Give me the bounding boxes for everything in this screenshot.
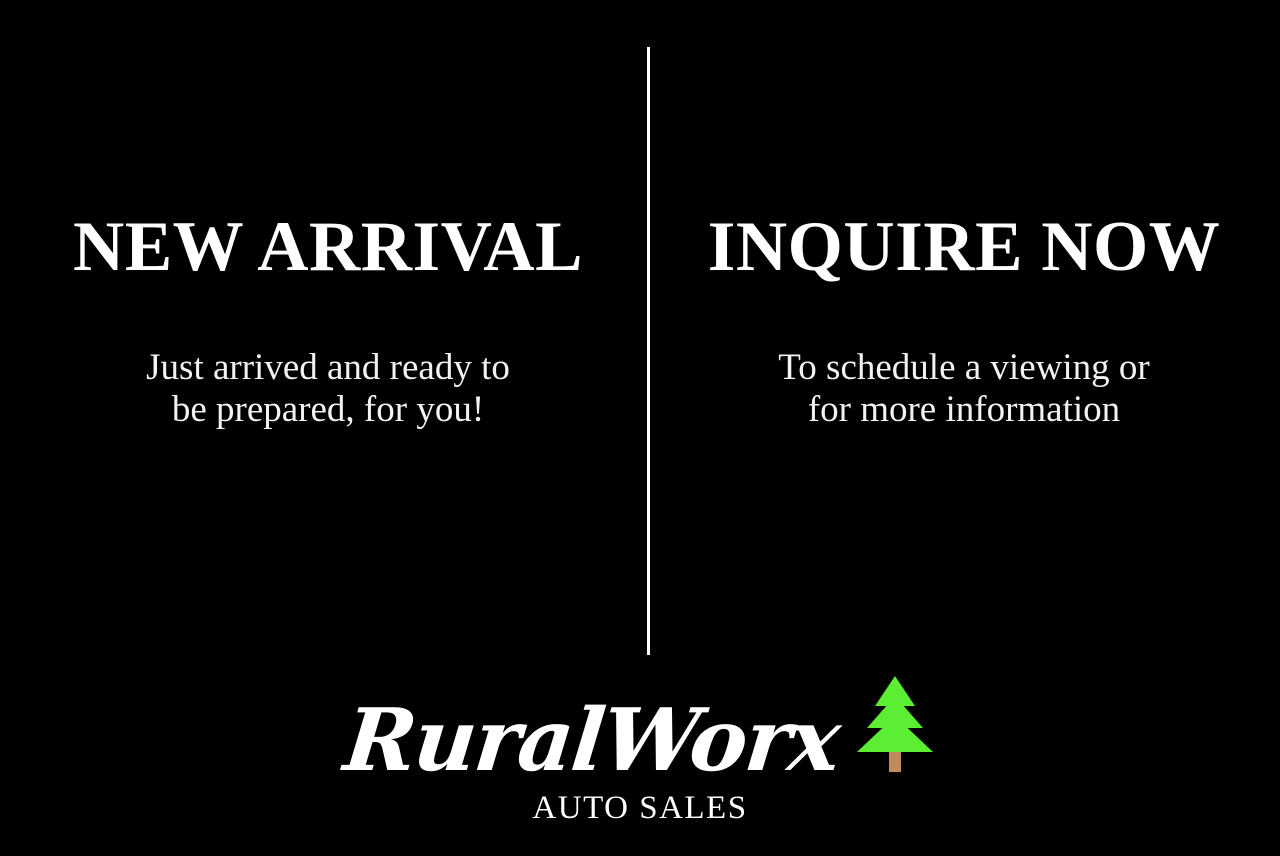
panel-body-line: Just arrived and ready to: [48, 347, 608, 389]
panel-body-line: for more information: [684, 389, 1244, 431]
panel-inquire-now: INQUIRE NOW To schedule a viewing or for…: [684, 210, 1244, 431]
brand-tagline: AUTO SALES: [532, 790, 747, 827]
panel-body-new-arrival: Just arrived and ready to be prepared, f…: [48, 347, 608, 431]
panel-body-line: be prepared, for you!: [48, 389, 608, 431]
vertical-divider: [647, 47, 650, 655]
pine-tree-icon: [855, 672, 935, 778]
panel-body-line: To schedule a viewing or: [684, 347, 1244, 389]
panel-new-arrival: NEW ARRIVAL Just arrived and ready to be…: [48, 210, 608, 431]
panel-heading-inquire-now: INQUIRE NOW: [684, 210, 1244, 285]
slide-canvas: NEW ARRIVAL Just arrived and ready to be…: [0, 0, 1280, 856]
brand-logo-row: RuralWorx: [345, 672, 934, 780]
panel-body-inquire-now: To schedule a viewing or for more inform…: [684, 347, 1244, 431]
brand-logo: RuralWorx AUTO SALES: [0, 672, 1280, 827]
brand-wordmark: RuralWorx: [341, 698, 843, 784]
panel-heading-new-arrival: NEW ARRIVAL: [48, 210, 608, 285]
